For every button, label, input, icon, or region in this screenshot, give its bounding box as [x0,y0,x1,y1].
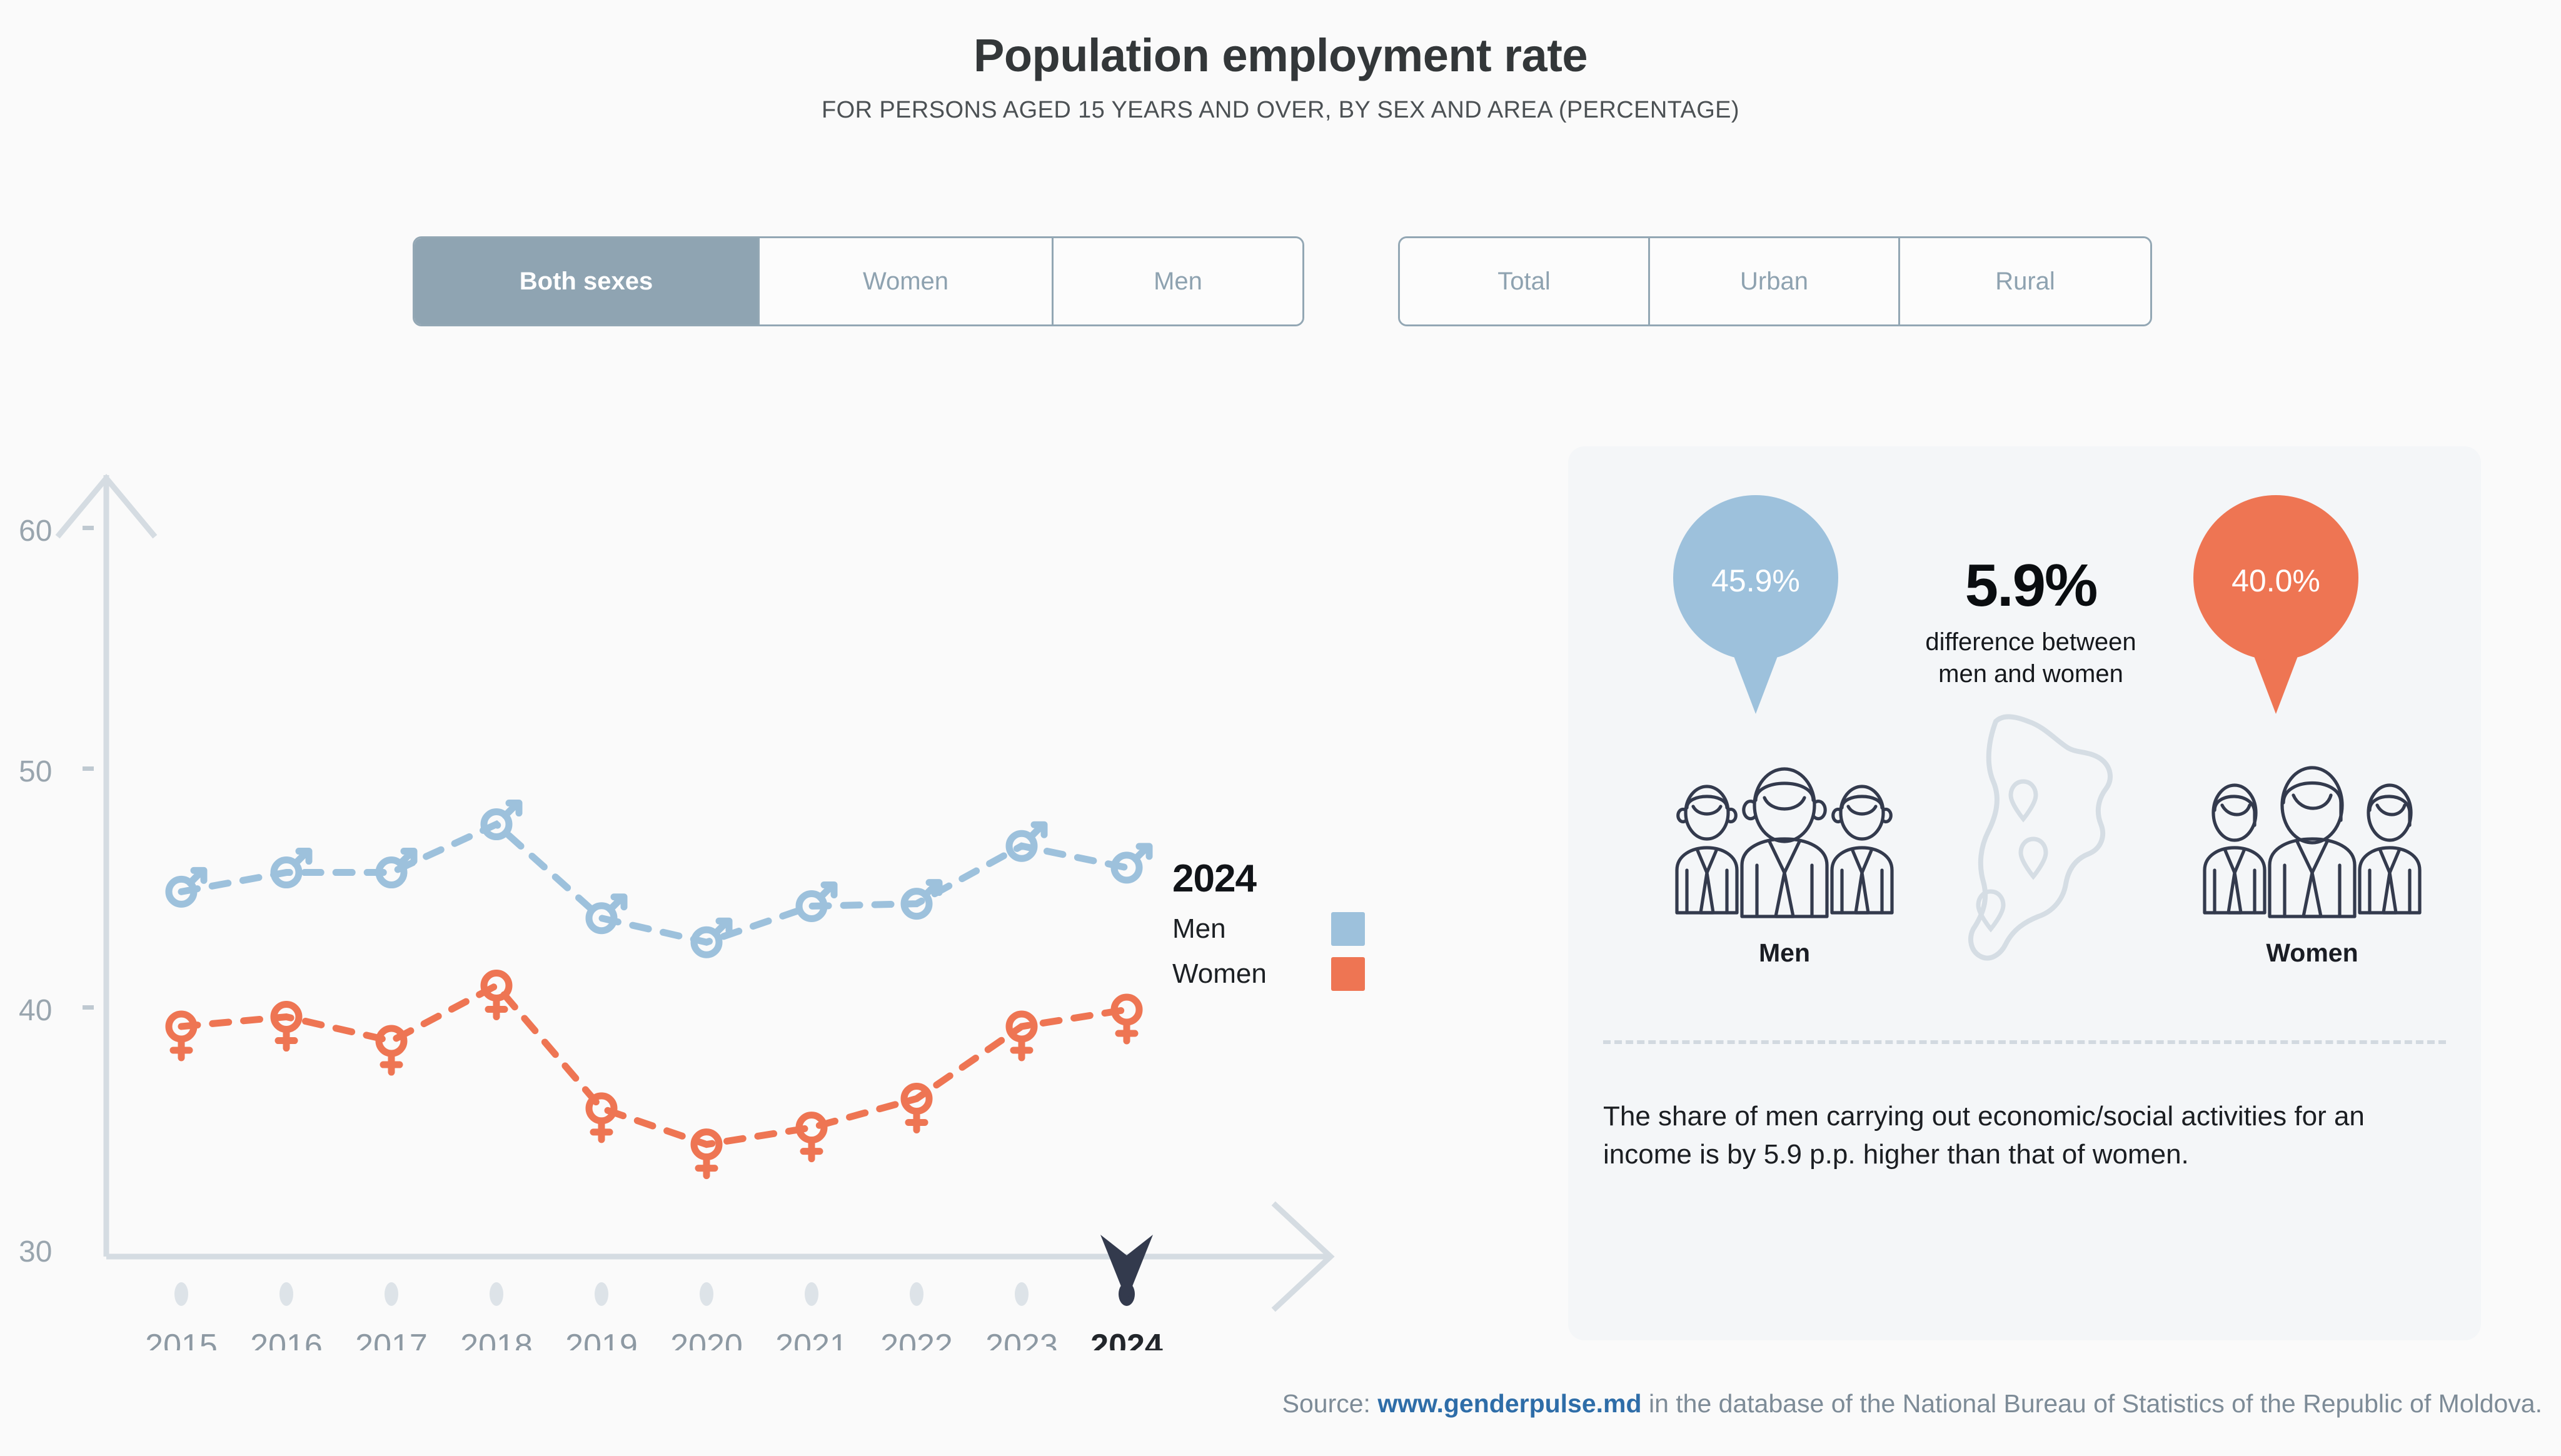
pin-row: 45.9% 40.0% 5.9% difference between men … [1568,495,2481,720]
series-women [169,973,1139,1176]
x-label-2022: 2022 [880,1328,953,1350]
mars-symbol-icon[interactable] [1009,825,1044,858]
x-axis-labels: 2015 2016 2017 2018 2019 2020 2021 2022 … [145,1328,1163,1350]
x-label-2020: 2020 [670,1328,743,1350]
women-people-group: Women [2187,765,2437,968]
legend-label-women: Women [1172,958,1267,990]
series-line [181,986,1127,1145]
y-tick-60: 60 [19,515,52,548]
mars-symbol-icon[interactable] [484,803,519,837]
venus-symbol-icon[interactable] [379,1028,404,1072]
venus-symbol-icon[interactable] [589,1096,614,1140]
y-tick-40: 40 [19,994,52,1027]
legend-swatch-men [1331,912,1365,946]
y-axis-ticks: 60 50 40 30 [19,515,94,1268]
venus-symbol-icon[interactable] [904,1086,929,1130]
mars-symbol-icon[interactable] [274,851,309,885]
series-men [169,803,1149,955]
x-label-2018: 2018 [460,1328,533,1350]
page-subtitle: FOR PERSONS AGED 15 YEARS AND OVER, BY S… [0,97,2561,124]
venus-symbol-icon[interactable] [484,973,509,1017]
difference-block: 5.9% difference between men and women [1899,551,2162,690]
x-axis-dots [174,1282,1135,1306]
venus-symbol-icon[interactable] [694,1132,719,1176]
line-chart: 60 50 40 30 [0,413,1438,1350]
y-tick-50: 50 [19,755,52,788]
chart-legend: 2024 Men Women [1172,856,1365,991]
filter-toggles: Both sexes Women Men Total Urban Rural [413,236,2152,326]
header: Population employment rate FOR PERSONS A… [0,30,2561,124]
toggle-urban[interactable]: Urban [1650,238,1900,324]
men-group-label: Men [1659,938,1909,968]
men-pin: 45.9% [1673,495,1838,714]
toggle-rural[interactable]: Rural [1900,238,2150,324]
toggle-women[interactable]: Women [760,238,1054,324]
toggle-men[interactable]: Men [1054,238,1302,324]
people-row: Men [1568,765,2481,972]
women-trio-icon [2187,765,2437,921]
venus-symbol-icon[interactable] [1009,1014,1034,1058]
venus-symbol-icon[interactable] [274,1005,299,1048]
source-link[interactable]: www.genderpulse.md [1377,1389,1641,1418]
x-label-2019: 2019 [565,1328,638,1350]
women-pin: 40.0% [2193,495,2358,714]
panel-divider [1603,1040,2446,1044]
sex-toggle-group: Both sexes Women Men [413,236,1304,326]
legend-item-men[interactable]: Men [1172,912,1365,946]
toggle-both-sexes[interactable]: Both sexes [415,238,760,324]
x-label-2015: 2015 [145,1328,218,1350]
legend-year: 2024 [1172,856,1365,901]
men-pin-value: 45.9% [1673,563,1838,599]
x-label-2017: 2017 [355,1328,428,1350]
legend-swatch-women [1331,957,1365,991]
panel-description: The share of men carrying out economic/s… [1603,1098,2435,1173]
chart-axes [59,475,1332,1308]
mars-symbol-icon[interactable] [589,897,624,931]
legend-item-women[interactable]: Women [1172,957,1365,991]
difference-value: 5.9% [1899,551,2162,620]
x-label-2024: 2024 [1090,1328,1163,1350]
men-trio-icon [1659,765,1909,921]
chart-series-layer [169,803,1149,1176]
source-suffix: in the database of the National Bureau o… [1642,1389,2542,1418]
series-line [181,825,1127,943]
page-title: Population employment rate [0,30,2561,81]
summary-panel: 45.9% 40.0% 5.9% difference between men … [1568,446,2481,1340]
infographic-page: Population employment rate FOR PERSONS A… [0,0,2561,1456]
difference-caption: difference between men and women [1899,626,2162,690]
women-group-label: Women [2187,938,2437,968]
area-toggle-group: Total Urban Rural [1398,236,2152,326]
venus-symbol-icon[interactable] [799,1115,824,1159]
venus-symbol-icon[interactable] [1114,997,1139,1041]
moldova-map-icon [1951,709,2138,972]
y-tick-30: 30 [19,1235,52,1268]
men-people-group: Men [1659,765,1909,968]
x-label-2016: 2016 [250,1328,323,1350]
legend-label-men: Men [1172,913,1226,945]
toggle-total[interactable]: Total [1400,238,1650,324]
source-footer: Source: www.genderpulse.md in the databa… [0,1389,2542,1418]
selected-year-chevron [1100,1235,1153,1300]
women-pin-value: 40.0% [2193,563,2358,599]
x-label-2023: 2023 [985,1328,1058,1350]
source-prefix: Source: [1282,1389,1378,1418]
mars-symbol-icon[interactable] [799,885,834,918]
x-label-2021: 2021 [775,1328,848,1350]
venus-symbol-icon[interactable] [169,1014,194,1058]
